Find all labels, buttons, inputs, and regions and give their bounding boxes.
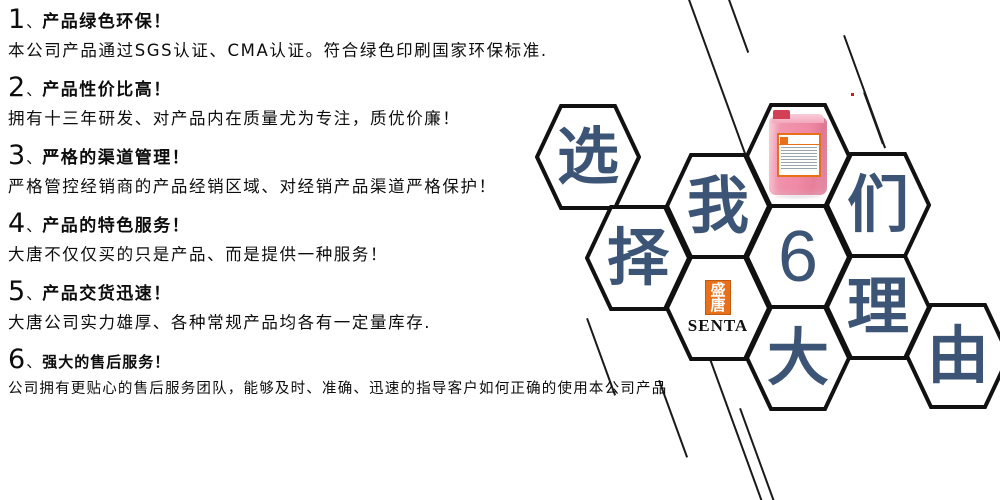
reason-separator: 、 (26, 215, 41, 236)
reason-title: 严格的渠道管理！ (42, 143, 190, 168)
reason-title: 产品的特色服务！ (42, 211, 190, 236)
reason-separator: 、 (26, 351, 41, 372)
promo-banner: 1 、 产品绿色环保！ 本公司产品通过SGS认证、CMA认证。符合绿色印刷国家环… (0, 0, 1000, 500)
reason-number: 1 (8, 6, 25, 33)
hex-cell-xuan: 选 (535, 104, 641, 210)
reason-heading: 2 、 产品性价比高！ (8, 74, 648, 101)
reason-heading: 4 、 产品的特色服务！ (8, 210, 648, 237)
reason-title: 产品性价比高！ (42, 75, 172, 100)
brand-char-tang: 唐 (710, 298, 725, 313)
reason-title: 产品交货迅速！ (42, 279, 172, 304)
reason-number: 2 (8, 74, 25, 101)
hex-cell-you: 由 (905, 303, 1000, 409)
reason-body: 大唐不仅仅买的只是产品、而是提供一种服务！ (8, 241, 648, 265)
diagonal-line (863, 92, 884, 144)
reason-number: 6 (8, 346, 25, 373)
brand-mark-box: 盛唐 (705, 280, 730, 315)
reason-separator: 、 (26, 11, 41, 32)
label-header (779, 135, 819, 145)
reason-separator: 、 (26, 79, 41, 100)
reason-body: 公司拥有更贴心的售后服务团队，能够及时、准确、迅速的指导客户如何正确的使用本公司… (8, 377, 648, 398)
hex-glyph: 由 (905, 303, 1000, 409)
reason-number: 3 (8, 142, 25, 169)
product-jerrycan (769, 117, 827, 195)
diagonal-line (726, 0, 749, 53)
jerrycan-label (777, 133, 821, 177)
brand-latin-name: SENTA (688, 316, 748, 336)
label-text-lines (779, 145, 819, 169)
reason-item: 5 、 产品交货迅速！ 大唐公司实力雄厚、各种常规产品均各有一定量库存. (8, 278, 648, 333)
hex-glyph: 们 (825, 152, 931, 258)
hex-cell-men: 们 (825, 152, 931, 258)
reason-body: 本公司产品通过SGS认证、CMA认证。符合绿色印刷国家环保标准. (8, 37, 648, 61)
reason-title: 产品绿色环保！ (42, 7, 172, 32)
jerrycan-cap (773, 110, 790, 119)
hex-glyph: 选 (535, 104, 641, 210)
reason-item: 6 、 强大的售后服务！ 公司拥有更贴心的售后服务团队，能够及时、准确、迅速的指… (8, 346, 648, 398)
reason-separator: 、 (26, 147, 41, 168)
reason-number: 4 (8, 210, 25, 237)
reason-heading: 5 、 产品交货迅速！ (8, 278, 648, 305)
reason-item: 4 、 产品的特色服务！ 大唐不仅仅买的只是产品、而是提供一种服务！ (8, 210, 648, 265)
reason-heading: 1 、 产品绿色环保！ (8, 6, 648, 33)
reason-title: 强大的售后服务！ (42, 351, 170, 372)
reason-separator: 、 (26, 283, 41, 304)
reason-heading: 6 、 强大的售后服务！ (8, 346, 648, 373)
jerrycan-shadow (775, 195, 821, 198)
reason-number: 5 (8, 278, 25, 305)
reason-body: 大唐公司实力雄厚、各种常规产品均各有一定量库存. (8, 309, 648, 333)
reason-item: 1 、 产品绿色环保！ 本公司产品通过SGS认证、CMA认证。符合绿色印刷国家环… (8, 6, 648, 61)
red-dot-marker (851, 93, 854, 96)
label-swatch (780, 137, 788, 144)
